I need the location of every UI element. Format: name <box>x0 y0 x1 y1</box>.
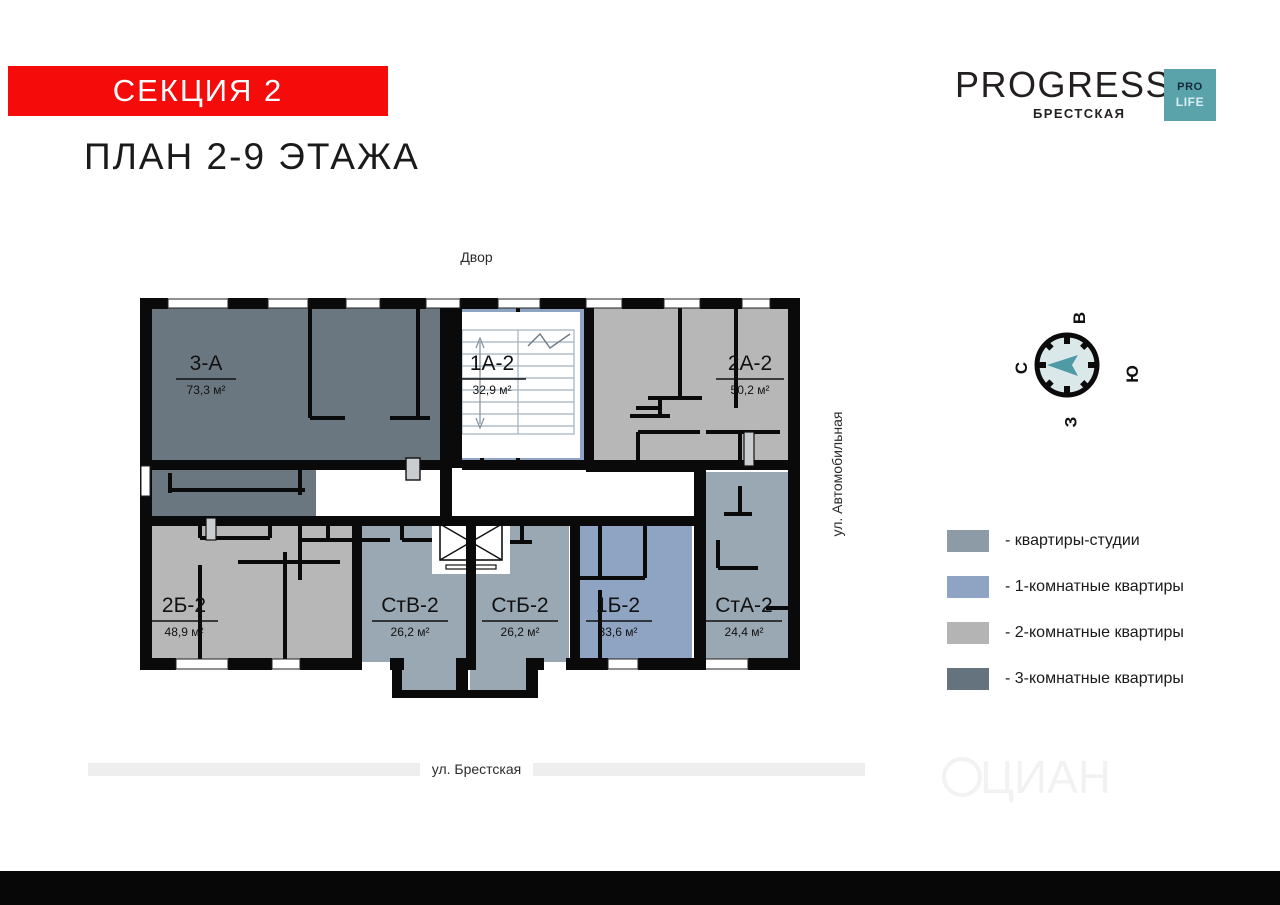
window-left <box>141 466 150 496</box>
apartment-area: 50,2 м² <box>731 383 770 397</box>
watermark: ЦИАН <box>940 735 1170 815</box>
footer-band <box>0 871 1280 905</box>
apartment-fill-1B-2[interactable] <box>572 522 692 662</box>
apartment-area: 24,4 м² <box>725 625 764 639</box>
apartment-area: 48,9 м² <box>165 625 204 639</box>
watermark-text: ЦИАН <box>980 751 1111 803</box>
apartment-area: 33,6 м² <box>599 625 638 639</box>
apartment-fill-3-A-b[interactable] <box>310 308 440 470</box>
compass-rose <box>1032 330 1102 400</box>
legend-label-three-room: - 3-комнатные квартиры <box>1005 670 1184 688</box>
brestskaya-label-wrap: ул. Брестская <box>0 761 953 777</box>
compass-label-north: С <box>1012 362 1032 374</box>
apartment-area: 32,9 м² <box>473 383 512 397</box>
section-badge-label: СЕКЦИЯ 2 <box>113 73 284 109</box>
apartment-name: 3-А <box>190 352 223 375</box>
legend-label-one-room: - 1-комнатные квартиры <box>1005 578 1184 596</box>
yard-label-wrap: Двор <box>0 249 953 265</box>
legend-swatch-two-room <box>947 622 989 644</box>
yard-label: Двор <box>448 249 504 265</box>
prolife-badge-bottom: LIFE <box>1164 95 1216 109</box>
apartment-name: 2А-2 <box>728 352 772 375</box>
apartment-name: 1А-2 <box>470 352 514 375</box>
apartment-name: СтА-2 <box>715 594 772 617</box>
section-badge: СЕКЦИЯ 2 <box>8 66 388 116</box>
legend-item-studio[interactable]: - квартиры-студии <box>947 518 1247 564</box>
brestskaya-label: ул. Брестская <box>420 761 533 777</box>
compass-label-south: Ю <box>1123 365 1143 383</box>
apartment-name: 2Б-2 <box>162 594 206 617</box>
legend-label-two-room: - 2-комнатные квартиры <box>1005 624 1184 642</box>
corridor <box>316 470 694 518</box>
prolife-badge: PRO LIFE <box>1164 69 1216 121</box>
avtomobilnaya-label: ул. Автомобильная <box>829 412 845 537</box>
apartment-area: 73,3 м² <box>187 383 226 397</box>
legend-swatch-three-room <box>947 668 989 690</box>
legend-swatch-one-room <box>947 576 989 598</box>
floor-plan: 3-А 73,3 м² 1А-2 32,9 м² 2А-2 50,2 м² 2Б… <box>140 290 800 710</box>
apartment-fill-2B-2[interactable] <box>150 522 355 662</box>
page-title: ПЛАН 2-9 ЭТАЖА <box>84 136 420 178</box>
legend-item-one-room[interactable]: - 1-комнатные квартиры <box>947 564 1247 610</box>
compass-label-east: В <box>1070 312 1090 324</box>
prolife-badge-top: PRO <box>1164 81 1216 93</box>
apartment-area: 26,2 м² <box>391 625 430 639</box>
logo-subtitle: БРЕСТСКАЯ <box>1033 106 1125 121</box>
legend-item-three-room[interactable]: - 3-комнатные квартиры <box>947 656 1247 702</box>
apartment-name: 1Б-2 <box>596 594 640 617</box>
legend-label-studio: - квартиры-студии <box>1005 532 1140 550</box>
legend-swatch-studio <box>947 530 989 552</box>
apartment-name: СтБ-2 <box>491 594 548 617</box>
apartment-area: 26,2 м² <box>501 625 540 639</box>
logo-wordmark: PROGRESS <box>955 64 1171 106</box>
legend-item-two-room[interactable]: - 2-комнатные квартиры <box>947 610 1247 656</box>
compass-label-west: З <box>1061 417 1081 428</box>
brand-logo: PROGRESS БРЕСТСКАЯ PRO LIFE <box>955 62 1220 128</box>
legend: - квартиры-студии - 1-комнатные квартиры… <box>947 518 1247 702</box>
apartment-name: СтВ-2 <box>381 594 438 617</box>
